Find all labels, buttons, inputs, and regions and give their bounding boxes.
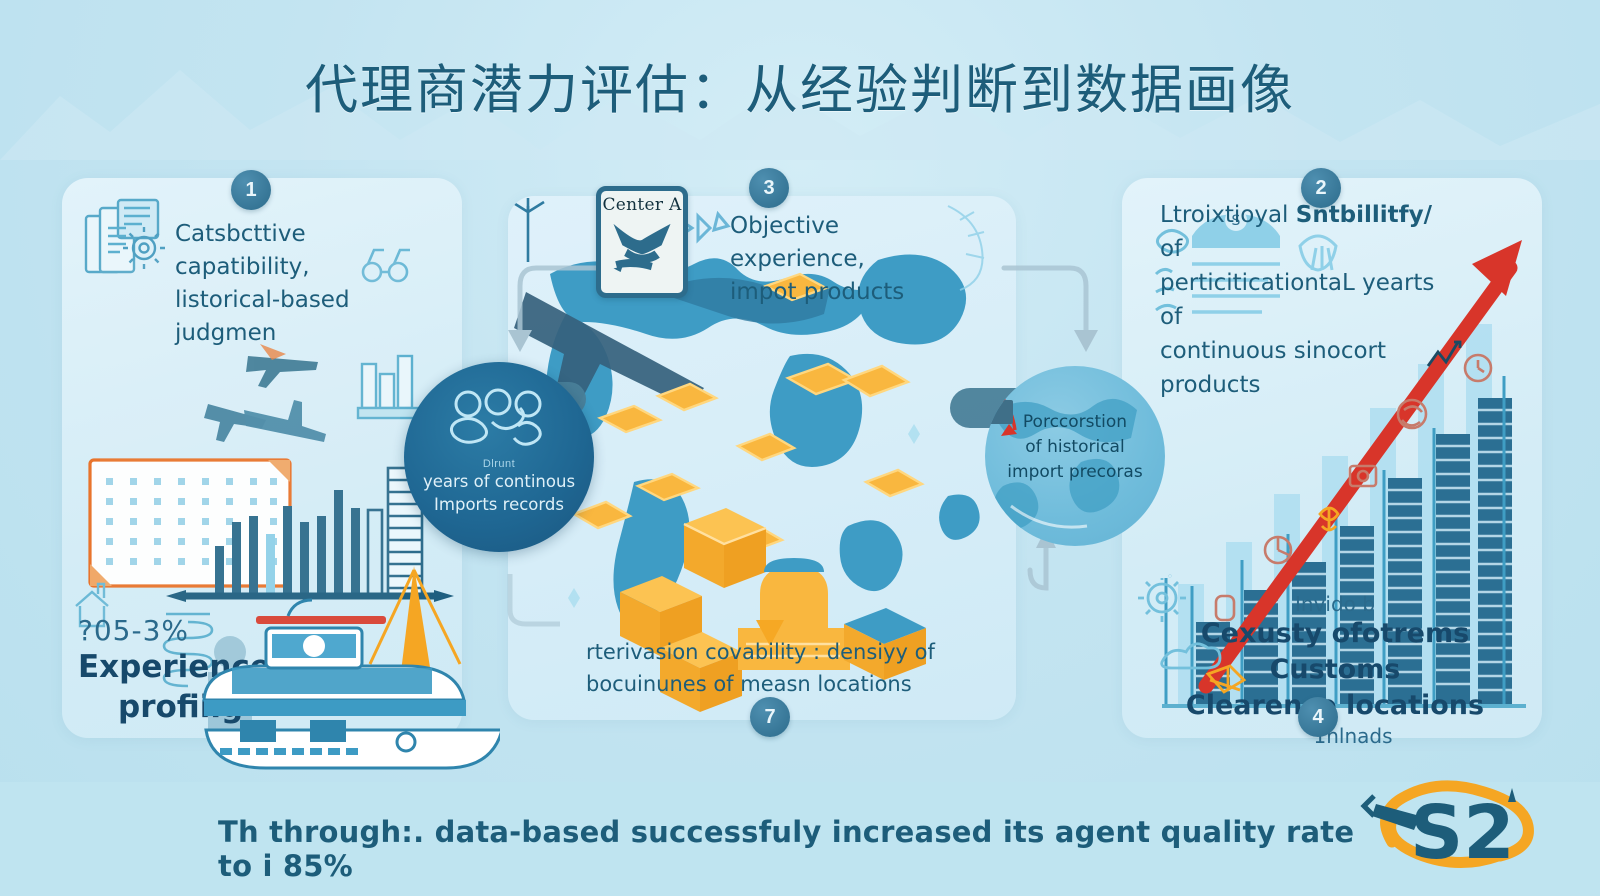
- left-heading-line-1: Catsbcttive capatibility,: [175, 218, 445, 284]
- right-heading-line-2: perticiticationtaL yearts of: [1160, 266, 1460, 334]
- cloud-icon: [1162, 644, 1220, 668]
- right-panel-heading: Ltroixtioyal Sntbillitfy/ of perticitica…: [1160, 198, 1460, 402]
- right-footer-tiny: 1nlnads: [1150, 724, 1520, 748]
- node-line-2: Imports records: [418, 493, 580, 516]
- gear-icon: [1138, 578, 1186, 622]
- handshake-stamp-icon: [601, 215, 683, 279]
- right-heading-line-1: Ltroixtioyal Sntbillitfy/ of: [1160, 198, 1460, 266]
- page-title: 代理商潜力评估：从经验判断到数据画像: [0, 48, 1600, 124]
- center-a-caption: Center A: [601, 191, 683, 215]
- connector-stub: [985, 400, 1013, 424]
- step-badge-1[interactable]: 1: [231, 170, 271, 210]
- center-panel-heading: Objective experience, impot products: [730, 210, 960, 309]
- center-panel-footer: rterivasion covability : densiyy of bocu…: [586, 636, 946, 700]
- step-badge-2[interactable]: 2: [1301, 168, 1341, 208]
- handshake-people-icon: [448, 388, 550, 454]
- step-badge-3[interactable]: 3: [749, 168, 789, 208]
- right-panel-footer-icons: [1128, 578, 1348, 708]
- right-heading-part-c: of: [1160, 236, 1182, 262]
- center-heading-line-2: experience,: [730, 243, 960, 276]
- left-panel-heading: Catsbcttive capatibility, listorical-bas…: [175, 218, 445, 350]
- windmill-icon: [512, 198, 544, 262]
- step-badge-7[interactable]: 7: [750, 697, 790, 737]
- center-heading-line-1: Objective: [730, 210, 960, 243]
- right-heading-part-a: Ltroixtioyal: [1160, 202, 1296, 228]
- node-line-3: import precoras: [995, 460, 1155, 485]
- right-heading-line-3: continuous sinocort products: [1160, 334, 1460, 402]
- infographic-canvas: 代理商潜力评估：从经验判断到数据画像: [0, 0, 1600, 896]
- s2-logo[interactable]: S2: [1352, 770, 1542, 880]
- center-heading-line-3: impot products: [730, 276, 960, 309]
- center-a-stamp-card: Center A: [596, 186, 688, 298]
- cargo-ship-icon: [170, 560, 500, 780]
- node-line-1: years of continous: [418, 470, 580, 493]
- historical-records-node[interactable]: Porccorstion of historical import precor…: [985, 366, 1165, 546]
- summary-banner-text: Th through:. data-based successfuly incr…: [218, 815, 1358, 883]
- center-footer-line-2: bocuinunes of measn locations: [586, 668, 946, 700]
- left-heading-line-2: listorical-based judgmen: [175, 284, 445, 350]
- step-badge-4[interactable]: 4: [1298, 697, 1338, 737]
- node-small-label: Dlrunt: [404, 458, 594, 470]
- center-footer-line-1: rterivasion covability : densiyy of: [586, 636, 946, 668]
- diamond-icon: [1208, 666, 1244, 692]
- svg-text:S2: S2: [1410, 790, 1515, 876]
- import-records-node[interactable]: Dlrunt years of continous Imports record…: [404, 362, 594, 552]
